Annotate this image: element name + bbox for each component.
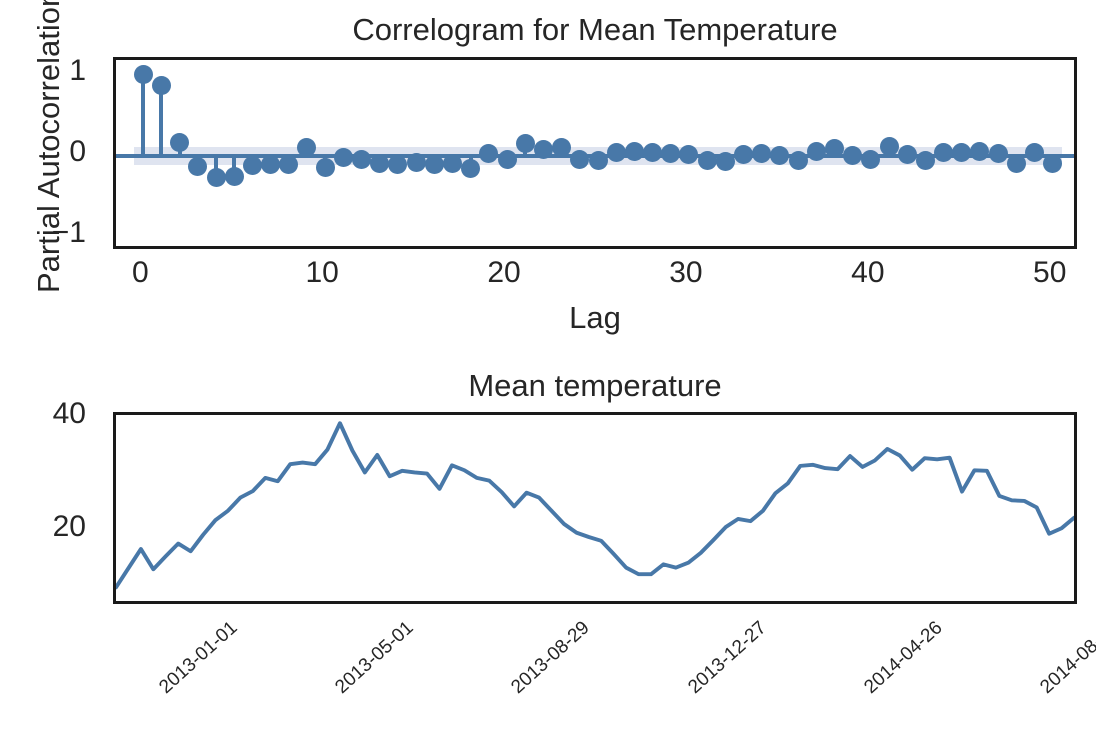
pacf-marker [516,134,535,153]
pacf-marker [152,76,171,95]
pacf-stem [159,85,163,156]
pacf-marker [789,151,808,170]
pacf-marker [916,151,935,170]
pacf-marker [1043,154,1062,173]
pacf-marker [407,153,426,172]
timeseries-line [116,423,1074,587]
pacf-marker [461,159,480,178]
pacf-marker [589,151,608,170]
pacf-marker [498,150,517,169]
pacf-marker [970,142,989,161]
pacf-marker [443,154,462,173]
timeseries-title: Mean temperature [113,368,1077,404]
timeseries-date-tick: 2013-01-01 [156,618,241,697]
pacf-marker [370,154,389,173]
timeseries-date-tick: 2014-08-24 [1037,618,1096,697]
pacf-marker [734,145,753,164]
pacf-marker [207,168,226,187]
figure-root: Correlogram for Mean Temperature Partial… [0,0,1096,738]
pacf-marker [898,145,917,164]
pacf-x-tick: 50 [1010,258,1090,288]
timeseries-date-tick: 2014-04-26 [861,618,946,697]
pacf-marker [388,155,407,174]
pacf-x-tick: 20 [464,258,544,288]
pacf-marker [134,65,153,84]
pacf-marker [698,151,717,170]
pacf-stem [141,75,145,156]
pacf-x-axis-label: Lag [113,300,1077,336]
pacf-marker [352,150,371,169]
pacf-marker [243,156,262,175]
timeseries-date-tick: 2013-05-01 [332,618,417,697]
pacf-marker [825,139,844,158]
pacf-data-layer [116,60,1074,246]
pacf-x-tick: 0 [100,258,180,288]
pacf-marker [861,150,880,169]
pacf-marker [880,137,899,156]
timeseries-y-tick: 20 [53,512,86,542]
pacf-marker [716,152,735,171]
pacf-plot-area [113,57,1077,249]
pacf-marker [170,133,189,152]
pacf-marker [570,150,589,169]
pacf-y-tick: 0 [69,137,86,167]
pacf-marker [425,155,444,174]
pacf-marker [607,143,626,162]
pacf-x-tick: 30 [646,258,726,288]
pacf-y-tick: 1 [69,56,86,86]
pacf-marker [1007,154,1026,173]
pacf-marker [989,144,1008,163]
pacf-x-tick: 10 [282,258,362,288]
pacf-title: Correlogram for Mean Temperature [113,12,1077,48]
pacf-marker [334,148,353,167]
timeseries-line-svg [116,415,1074,601]
pacf-marker [534,140,553,159]
timeseries-y-tick: 40 [53,399,86,429]
pacf-marker [188,157,207,176]
pacf-marker [316,158,335,177]
pacf-marker [843,146,862,165]
pacf-y-axis-label: Partial Autocorrelation [31,3,67,293]
pacf-marker [261,155,280,174]
pacf-marker [770,146,789,165]
pacf-x-tick: 40 [828,258,908,288]
pacf-marker [552,138,571,157]
timeseries-plot-area [113,412,1077,604]
pacf-marker [225,167,244,186]
pacf-y-tick: −1 [52,218,86,248]
timeseries-date-tick: 2013-08-29 [508,618,593,697]
timeseries-date-tick: 2013-12-27 [685,618,770,697]
pacf-marker [279,155,298,174]
